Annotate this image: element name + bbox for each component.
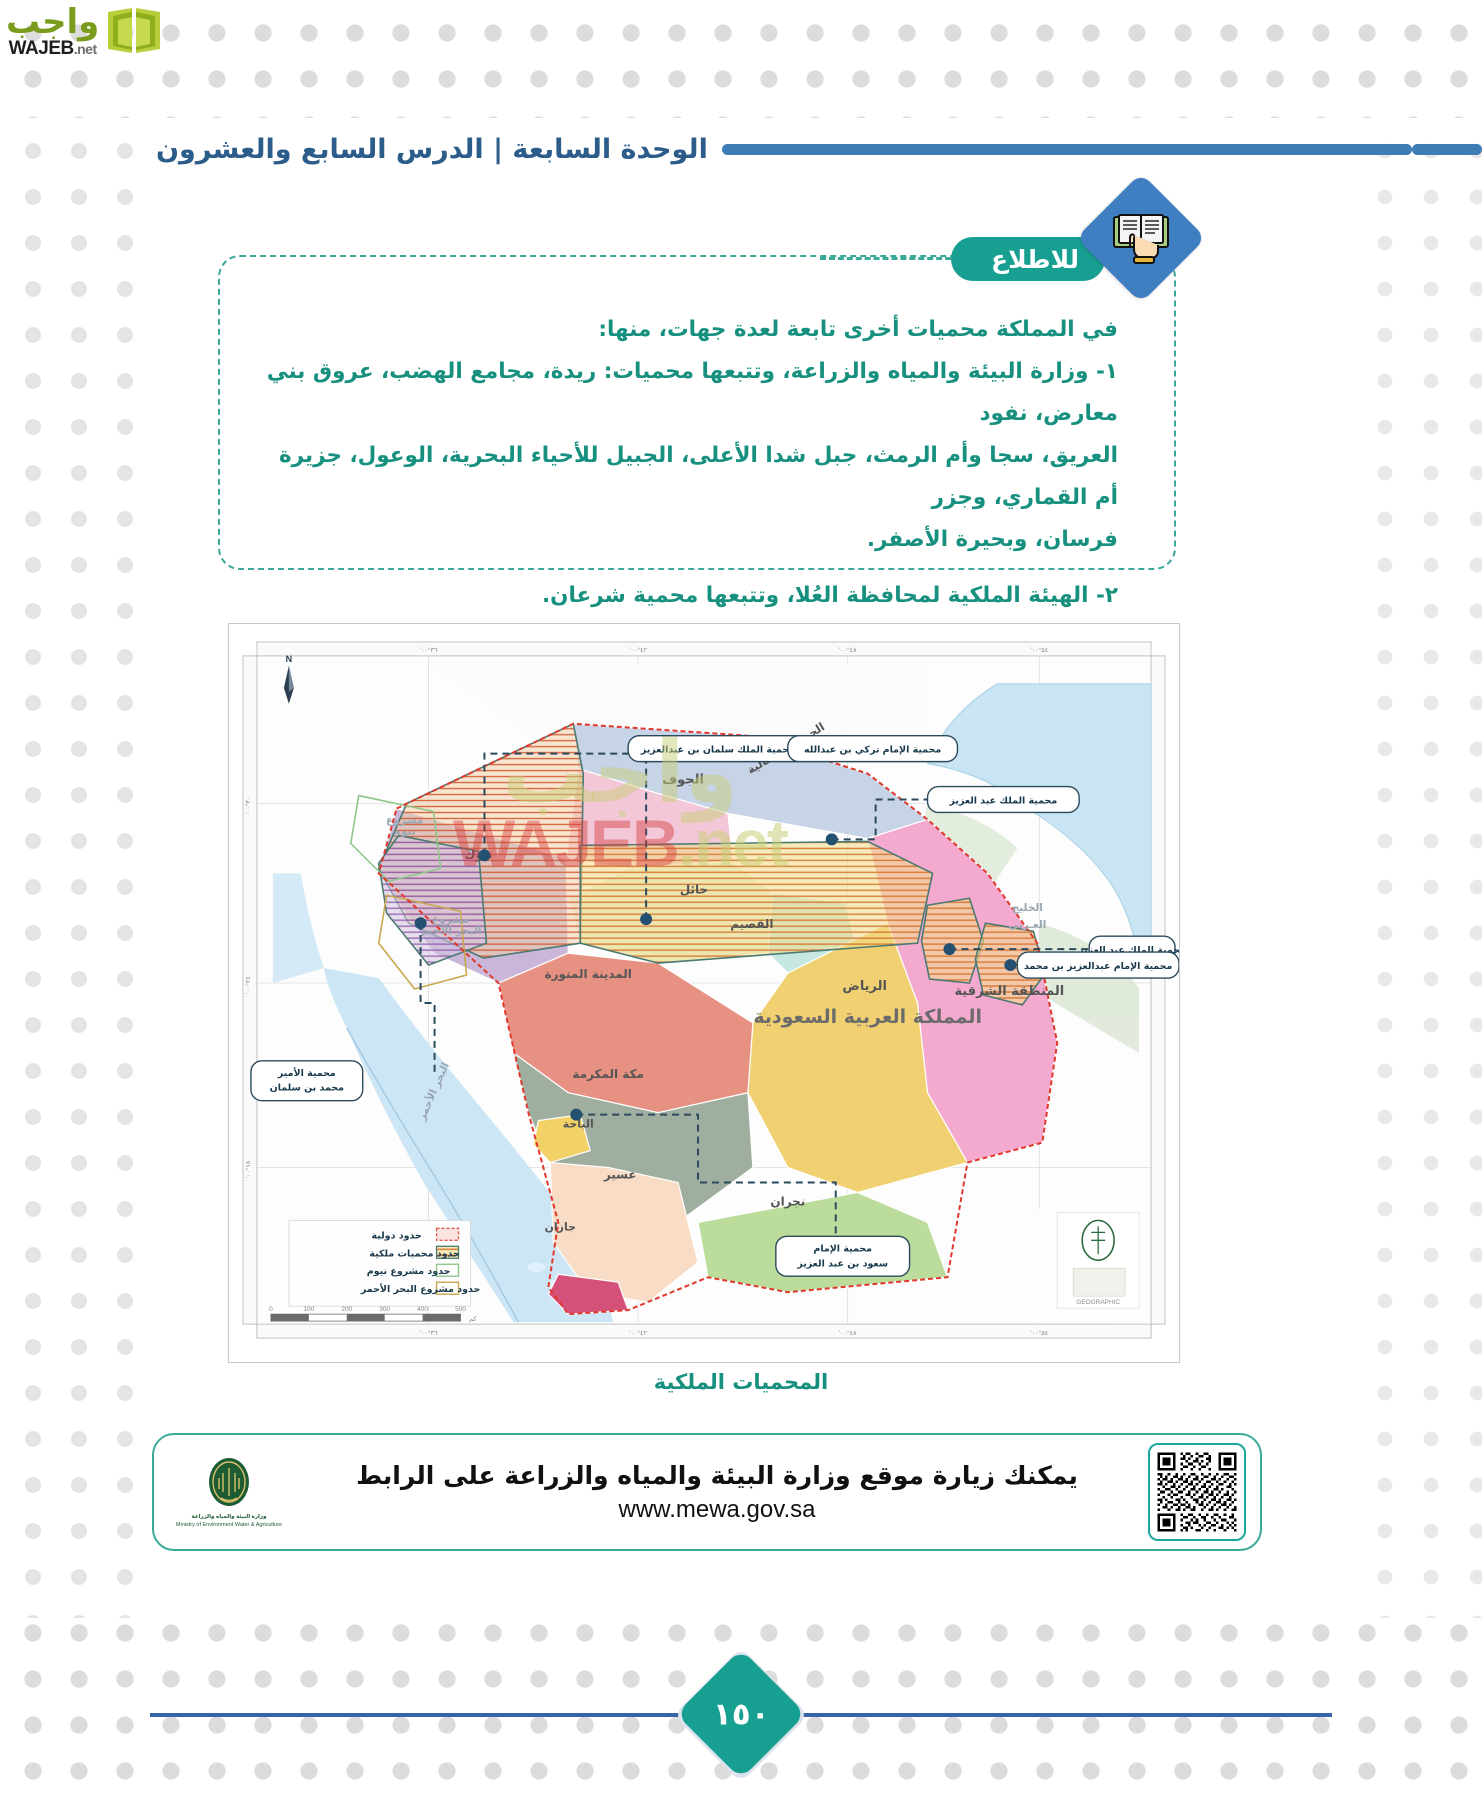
svg-text:٤٢°٠٠': ٤٢°٠٠': [629, 646, 647, 654]
callout-imam-abdulaziz-bin-mohammed: محمية الإمام عبدالعزيز بن محمد: [1017, 952, 1179, 978]
page-number-diamond: ١٥٠: [676, 1649, 806, 1779]
svg-text:١٨°٠٠': ١٨°٠٠': [244, 1160, 252, 1178]
svg-text:٣٦°٠٠': ٣٦°٠٠': [420, 646, 438, 654]
site-watermark-logo: واجب WAJEB.net: [6, 6, 163, 58]
ministry-logo: وزارة البيئة والمياه والزراعة Ministry o…: [170, 1456, 288, 1528]
svg-text:كم: كم: [469, 1316, 476, 1323]
svg-text:حدود دولية: حدود دولية: [372, 1230, 422, 1241]
svg-text:الرياض: الرياض: [842, 979, 887, 994]
svg-text:٤٨°٠٠': ٤٨°٠٠': [839, 1329, 857, 1337]
svg-text:N: N: [286, 654, 292, 664]
map-caption: المحميات الملكية: [0, 1370, 1482, 1394]
page-rule-left: [150, 1713, 680, 1717]
legend-row-reserves: حدود محميات ملكية: [369, 1246, 459, 1259]
note-line-item1-c: فرسان، وبحيرة الأصفر.: [264, 519, 1118, 561]
svg-text:GEOGRAPHIC: GEOGRAPHIC: [1076, 1299, 1120, 1306]
svg-text:٣٠°٠٠': ٣٠°٠٠': [244, 797, 252, 815]
note-line-item1-a: ١- وزارة البيئة والمياه والزراعة، وتتبعه…: [264, 351, 1118, 435]
page-number-band: ١٥٠: [0, 1654, 1482, 1774]
legend-row-neom: حدود مشروع نيوم: [367, 1264, 459, 1277]
svg-text:٥٤°٠٠': ٥٤°٠٠': [1030, 1329, 1048, 1337]
svg-text:100: 100: [303, 1306, 314, 1313]
note-line-item2: ٢- الهيئة الملكية لمحافظة العُلا، وتتبعه…: [264, 575, 1118, 617]
unit-lesson-title: الوحدة السابعة | الدرس السابع والعشرون: [140, 134, 722, 165]
brand-english: WAJEB.net: [9, 39, 97, 58]
legend-row-national: حدود دولية: [372, 1228, 459, 1241]
svg-text:المملكة العربية السعودية: المملكة العربية السعودية: [753, 1006, 982, 1028]
saudi-arabia-protected-areas-map: ٣٦°٠٠' ٤٢°٠٠' ٤٨°٠٠' ٥٤°٠٠' ٣٦°٠٠' ٤٢°٠٠…: [229, 624, 1179, 1362]
svg-text:محمية الأمير: محمية الأمير: [277, 1067, 336, 1079]
map-legend: حدود دولية حدود محميات ملكية حدود مشروع …: [289, 1220, 480, 1306]
svg-text:نيوم: نيوم: [393, 825, 416, 837]
svg-text:حدود مشروع البحر الأحمر: حدود مشروع البحر الأحمر: [360, 1283, 480, 1295]
reserve-king-abdulaziz: [922, 898, 984, 983]
qr-code-icon[interactable]: [1148, 1443, 1246, 1541]
reserve-imam-turki: [580, 841, 932, 963]
brand-text: واجب WAJEB.net: [6, 6, 99, 57]
ministry-logo-arabic: وزارة البيئة والمياه والزراعة: [191, 1514, 266, 1520]
svg-text:سعود بن عبد العزيز: سعود بن عبد العزيز: [796, 1258, 888, 1269]
svg-text:جازان: جازان: [545, 1220, 576, 1233]
svg-text:400: 400: [417, 1306, 428, 1313]
page-header: الوحدة السابعة | الدرس السابع والعشرون: [140, 126, 1482, 172]
svg-text:٤٨°٠٠': ٤٨°٠٠': [839, 646, 857, 654]
ministry-logo-english: Ministry of Environment Water & Agricult…: [176, 1522, 282, 1528]
callout-imam-turki: محمية الإمام تركي بن عبدالله: [788, 736, 958, 762]
svg-text:حائل: حائل: [680, 882, 708, 896]
svg-text:محمية الإمام عبدالعزيز بن محمد: محمية الإمام عبدالعزيز بن محمد: [1024, 961, 1173, 972]
legend-row-redsea: حدود مشروع البحر الأحمر: [360, 1282, 480, 1295]
textbook-page: واجب WAJEB.net الوحدة السابعة | الدرس ال…: [0, 0, 1482, 1800]
page-number-text: ١٥٠: [713, 1696, 770, 1732]
note-tab-dashed-connector: [820, 257, 960, 260]
svg-text:مكة المكرمة: مكة المكرمة: [572, 1067, 644, 1081]
external-link-box: يمكنك زيارة موقع وزارة البيئة والمياه وا…: [152, 1433, 1262, 1551]
note-line-intro: في المملكة محميات أخرى تابعة لعدة جهات، …: [264, 309, 1118, 351]
map-figure: ٣٦°٠٠' ٤٢°٠٠' ٤٨°٠٠' ٥٤°٠٠' ٣٦°٠٠' ٤٢°٠٠…: [228, 623, 1180, 1363]
svg-text:300: 300: [379, 1306, 390, 1313]
svg-text:٣٦°٠٠': ٣٦°٠٠': [420, 1329, 438, 1337]
note-tab-label: للاطلاع: [991, 245, 1079, 274]
svg-text:٥٤°٠٠': ٥٤°٠٠': [1030, 646, 1048, 654]
svg-text:المنطقة الشرقية: المنطقة الشرقية: [954, 984, 1064, 999]
note-line-item1-b: العريق، سجا وأم الرمث، جبل شدا الأعلى، ا…: [264, 435, 1118, 519]
link-text-block: يمكنك زيارة موقع وزارة البيئة والمياه وا…: [294, 1461, 1140, 1524]
svg-text:500: 500: [455, 1306, 466, 1313]
svg-text:٢٤°٠٠': ٢٤°٠٠': [244, 976, 252, 994]
svg-text:المدينة المنورة: المدينة المنورة: [545, 967, 632, 982]
header-rule-accent: [1412, 144, 1482, 155]
svg-text:الجوف: الجوف: [662, 773, 704, 788]
callout-king-salman: محمية الملك سلمان بن عبدالعزيز: [628, 736, 808, 762]
svg-text:حدود محميات ملكية: حدود محميات ملكية: [369, 1248, 459, 1259]
note-box: في المملكة محميات أخرى تابعة لعدة جهات، …: [218, 255, 1176, 570]
svg-text:محمية الإمام تركي بن عبدالله: محمية الإمام تركي بن عبدالله: [804, 745, 941, 756]
svg-text:محمية الملك سلمان بن عبدالعزيز: محمية الملك سلمان بن عبدالعزيز: [640, 745, 795, 756]
svg-text:نجران: نجران: [770, 1194, 805, 1208]
link-instruction: يمكنك زيارة موقع وزارة البيئة والمياه وا…: [356, 1461, 1078, 1490]
svg-text:العـربي: العـربي: [1008, 919, 1046, 931]
svg-text:محمد بن سلمان: محمد بن سلمان: [270, 1083, 344, 1094]
svg-text:عسير: عسير: [603, 1168, 637, 1182]
page-rule-right: [802, 1713, 1332, 1717]
svg-text:محمية الملك عبد العزيز: محمية الملك عبد العزيز: [949, 796, 1058, 807]
svg-text:200: 200: [341, 1306, 352, 1313]
svg-text:حدود مشروع نيوم: حدود مشروع نيوم: [367, 1266, 451, 1277]
note-body: في المملكة محميات أخرى تابعة لعدة جهات، …: [220, 257, 1174, 616]
callout-king-abdulaziz: محمية الملك عبد العزيز: [928, 787, 1080, 813]
callout-imam-saud-bin-abdulaziz: محمية الإمام سعود بن عبد العزيز: [776, 1236, 910, 1276]
svg-text:محمية الإمام: محمية الإمام: [813, 1243, 872, 1254]
callout-prince-mohammed-bin-salman: محمية الأمير محمد بن سلمان: [251, 1061, 363, 1101]
svg-text:0: 0: [269, 1306, 273, 1313]
map-ministry-seal: GEOGRAPHIC: [1057, 1212, 1139, 1308]
svg-text:٤٢°٠٠': ٤٢°٠٠': [629, 1329, 647, 1337]
open-book-icon: [105, 6, 163, 58]
svg-text:البحر الأحمر: البحر الأحمر: [419, 924, 482, 937]
link-url[interactable]: www.mewa.gov.sa: [619, 1496, 816, 1524]
svg-text:القصيم: القصيم: [730, 917, 773, 931]
dot-pattern-top: [0, 0, 1482, 118]
header-rule-main: [722, 144, 1412, 155]
svg-text:الخليج: الخليج: [1012, 902, 1043, 914]
book-hand-glyph: [1108, 205, 1174, 271]
ministry-emblem-icon: [200, 1456, 258, 1512]
brand-arabic: واجب: [6, 6, 99, 38]
